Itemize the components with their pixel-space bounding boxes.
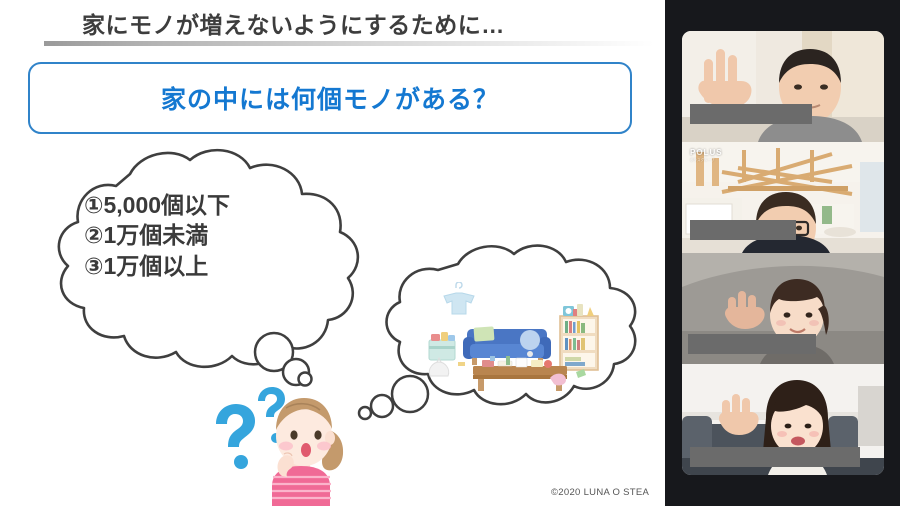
confused-person-illustration bbox=[200, 378, 360, 506]
video-tile-participant-1[interactable] bbox=[682, 31, 884, 142]
video-participants-panel: POLUS ポラスグループ bbox=[665, 0, 900, 506]
slide-title: 家にモノが増えないようにするために… bbox=[82, 6, 642, 40]
coffee-table bbox=[473, 356, 567, 391]
presentation-screen: 家にモノが増えないようにするために… 家の中には何個モノがある？ ①5,000個… bbox=[0, 0, 900, 506]
laundry-bag bbox=[429, 358, 448, 376]
title-divider bbox=[44, 41, 654, 46]
answer-option-3: ③1万個以上 bbox=[84, 251, 354, 281]
video-tile-participant-3[interactable] bbox=[682, 253, 884, 364]
cluttered-room-illustration bbox=[420, 282, 610, 397]
participant-2-name-redacted bbox=[690, 220, 796, 240]
answers-list: ①5,000個以下 ②1万個未満 ③1万個以上 bbox=[84, 190, 354, 281]
participant-3-name-redacted bbox=[688, 334, 816, 354]
video-tile-participant-2[interactable]: POLUS ポラスグループ bbox=[682, 142, 884, 253]
participant-1-name-redacted bbox=[690, 104, 812, 124]
shirt-on-hanger bbox=[444, 282, 474, 314]
polus-watermark: POLUS ポラスグループ bbox=[690, 148, 723, 162]
person-figure bbox=[272, 398, 343, 506]
answer-option-2: ②1万個未満 bbox=[84, 220, 354, 250]
participant-4-name-redacted bbox=[690, 447, 860, 467]
copyright-notice: ©2020 LUNA O STEA bbox=[551, 487, 649, 498]
slide-area: 家にモノが増えないようにするために… 家の中には何個モノがある？ ①5,000個… bbox=[0, 0, 665, 506]
video-tile-participant-4[interactable] bbox=[682, 364, 884, 475]
bookshelf bbox=[560, 304, 598, 370]
question-box: 家の中には何個モノがある？ bbox=[28, 62, 632, 134]
answer-option-1: ①5,000個以下 bbox=[84, 190, 354, 220]
participant-1-video bbox=[682, 31, 884, 142]
toy-box bbox=[429, 332, 455, 360]
video-tile-stack: POLUS ポラスグループ bbox=[682, 31, 884, 475]
question-text: 家の中には何個モノがある？ bbox=[161, 80, 499, 116]
question-mark-icon-large bbox=[216, 404, 255, 469]
